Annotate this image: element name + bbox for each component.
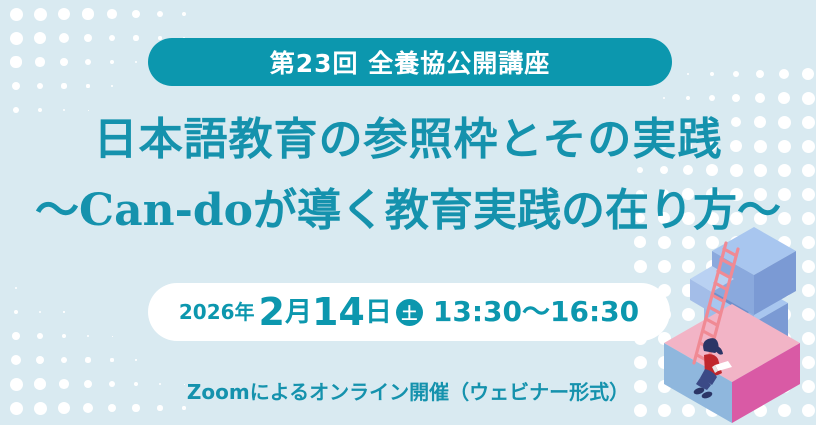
- decorative-dot: [182, 12, 186, 16]
- decorative-dot: [62, 334, 66, 338]
- decorative-dot: [779, 69, 790, 80]
- event-series-badge: 第23回 全養協公開講座: [148, 38, 672, 86]
- decorative-dot: [755, 93, 765, 103]
- decorative-dot: [82, 8, 93, 19]
- decorative-dot: [135, 359, 136, 360]
- decorative-dot: [58, 8, 71, 21]
- poster-canvas: 第23回 全養協公開講座 日本語教育の参照枠とその実践 ～Can-doが導く教育…: [0, 0, 816, 425]
- decorative-dot: [709, 95, 715, 101]
- decorative-dot: [132, 10, 140, 18]
- decorative-dot: [61, 357, 68, 364]
- decorative-dot: [133, 35, 138, 40]
- event-series-badge-label: 第23回 全養協公開講座: [270, 44, 551, 80]
- decorative-dot: [732, 94, 740, 102]
- decorative-dot: [12, 82, 20, 90]
- decorative-dot: [34, 32, 46, 44]
- decorative-dot: [35, 57, 44, 66]
- date-day-number: 14: [312, 293, 365, 331]
- decorative-dot: [634, 356, 647, 369]
- decorative-dot: [110, 358, 113, 361]
- decorative-dot: [87, 335, 89, 337]
- decorative-dot: [132, 404, 139, 411]
- date-month-number: 2: [259, 293, 285, 331]
- decorative-dot: [36, 356, 45, 365]
- decorative-dot: [85, 357, 90, 362]
- decorative-dot: [660, 166, 668, 174]
- decorative-dot: [110, 60, 114, 64]
- decorative-dot: [10, 8, 23, 21]
- page-title: 日本語教育の参照枠とその実践: [0, 103, 816, 167]
- decorative-dot: [12, 332, 20, 340]
- decorative-dot: [34, 8, 47, 21]
- decorative-dot: [756, 70, 764, 78]
- decorative-dot: [86, 84, 89, 87]
- decorative-dot: [182, 406, 186, 410]
- decorative-dot: [15, 287, 17, 289]
- decorative-dot: [60, 58, 68, 66]
- decorative-dot: [85, 59, 91, 65]
- decorative-dot: [63, 311, 64, 312]
- decorative-dot: [37, 83, 44, 90]
- isometric-blocks-illustration: [660, 195, 816, 425]
- decorative-dot: [10, 56, 21, 67]
- event-time-range: 13:30～16:30: [433, 298, 639, 326]
- date-month-char: 月: [285, 299, 312, 326]
- decorative-dot: [663, 97, 665, 99]
- day-of-week-badge: 土: [396, 299, 423, 326]
- decorative-dot: [157, 11, 163, 17]
- decorative-dot: [84, 34, 93, 43]
- date-year: 2026年: [179, 302, 255, 322]
- decorative-dot: [634, 404, 647, 417]
- decorative-dot: [687, 73, 689, 75]
- decorative-dot: [634, 260, 647, 273]
- decorative-dot: [733, 71, 739, 77]
- decorative-dot: [157, 405, 162, 410]
- decorative-dot: [109, 35, 116, 42]
- decorative-dot: [14, 310, 19, 315]
- decorative-dot: [11, 355, 22, 366]
- decorative-dot: [710, 72, 714, 76]
- decorative-dot: [39, 311, 42, 314]
- event-datetime-pill: 2026年 2 月 14 日 土 13:30～16:30: [148, 283, 670, 341]
- decorative-dot: [637, 167, 643, 173]
- decorative-dot: [61, 83, 66, 88]
- decorative-dot: [135, 61, 138, 64]
- decorative-dot: [10, 32, 23, 45]
- decorative-dot: [107, 9, 116, 18]
- decorative-dot: [111, 85, 113, 87]
- decorative-dot: [686, 96, 690, 100]
- decorative-dot: [59, 33, 69, 43]
- decorative-dot: [802, 68, 815, 81]
- decorative-dot: [37, 333, 43, 339]
- date-day-char: 日: [365, 299, 392, 326]
